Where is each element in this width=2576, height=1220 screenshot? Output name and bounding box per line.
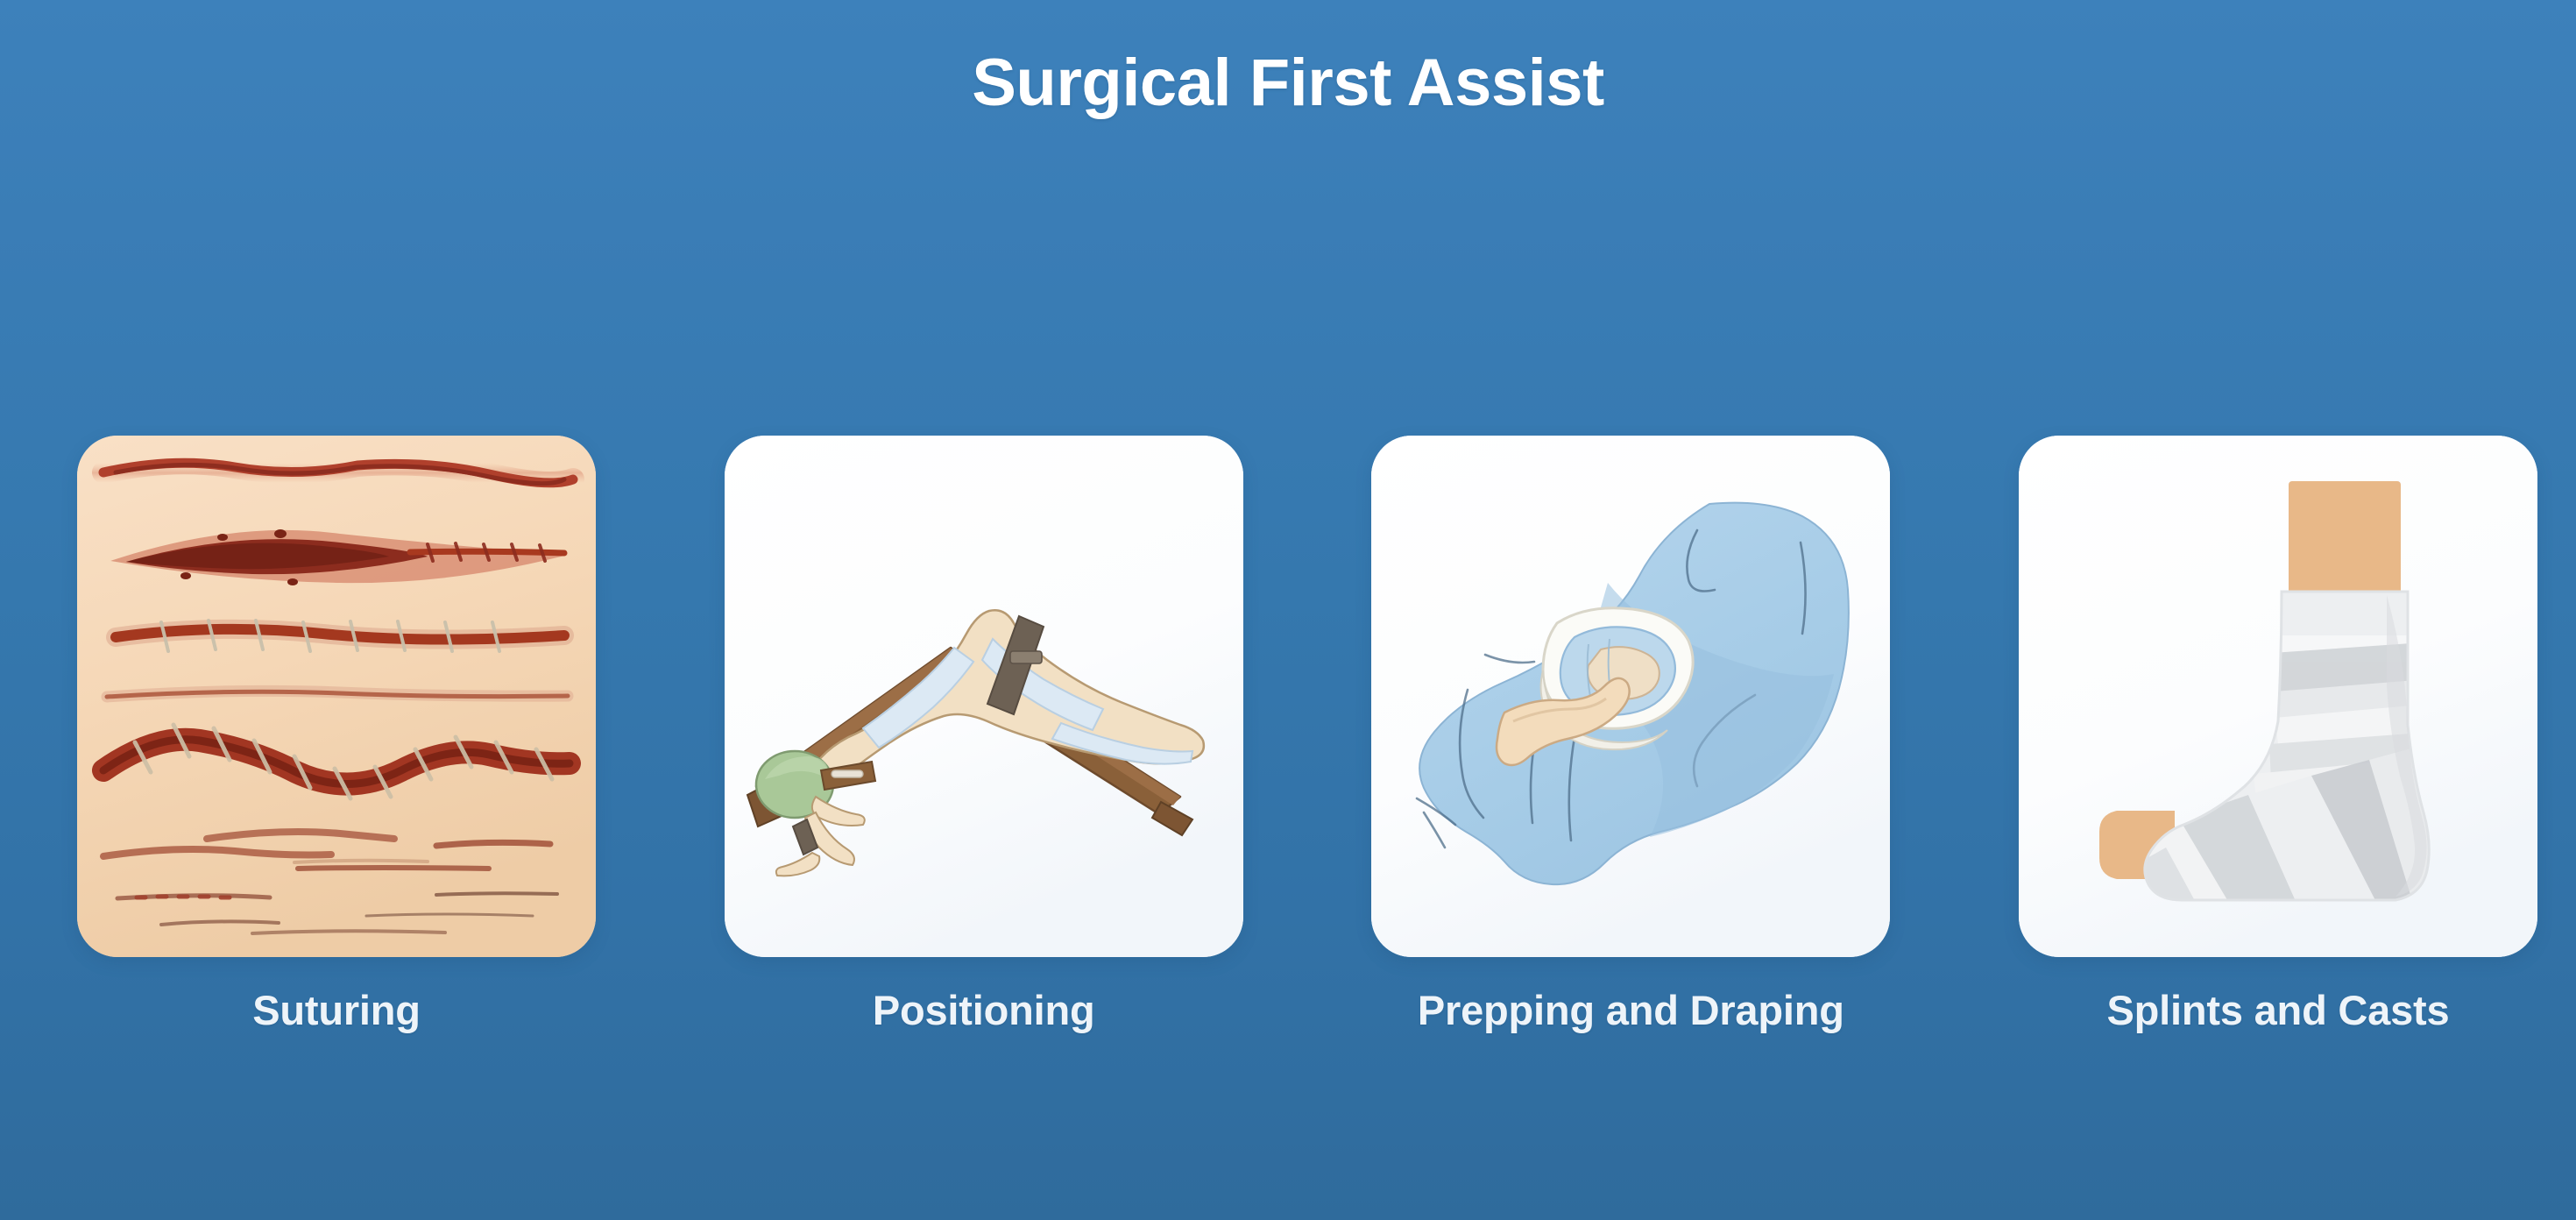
surgical-drape-icon — [1371, 436, 1890, 957]
card-label-positioning: Positioning — [873, 986, 1095, 1034]
category-card-positioning[interactable]: Positioning — [725, 436, 1243, 1034]
wound-line-4 — [107, 691, 568, 697]
exposed-shin-skin — [2289, 481, 2401, 597]
card-label-splints-and-casts: Splints and Casts — [2106, 986, 2449, 1034]
positioning-tile[interactable] — [725, 436, 1243, 957]
suturing-tile[interactable] — [77, 436, 596, 957]
category-card-suturing[interactable]: Suturing — [77, 436, 596, 1034]
foot-cast-icon — [2019, 436, 2537, 957]
prepping-draping-tile[interactable] — [1371, 436, 1890, 957]
card-label-suturing: Suturing — [252, 986, 421, 1034]
page-title: Surgical First Assist — [0, 48, 2576, 118]
suture-wounds-icon — [77, 436, 596, 957]
category-card-splints-and-casts[interactable]: Splints and Casts — [2019, 436, 2537, 1034]
category-card-prepping-and-draping[interactable]: Prepping and Draping — [1371, 436, 1890, 1034]
splints-casts-tile[interactable] — [2019, 436, 2537, 957]
slide-root: Surgical First Assist — [0, 0, 2576, 1220]
category-card-row: Suturing — [77, 436, 2537, 1102]
card-label-prepping-and-draping: Prepping and Draping — [1418, 986, 1844, 1034]
patient-positioning-icon — [725, 436, 1243, 957]
